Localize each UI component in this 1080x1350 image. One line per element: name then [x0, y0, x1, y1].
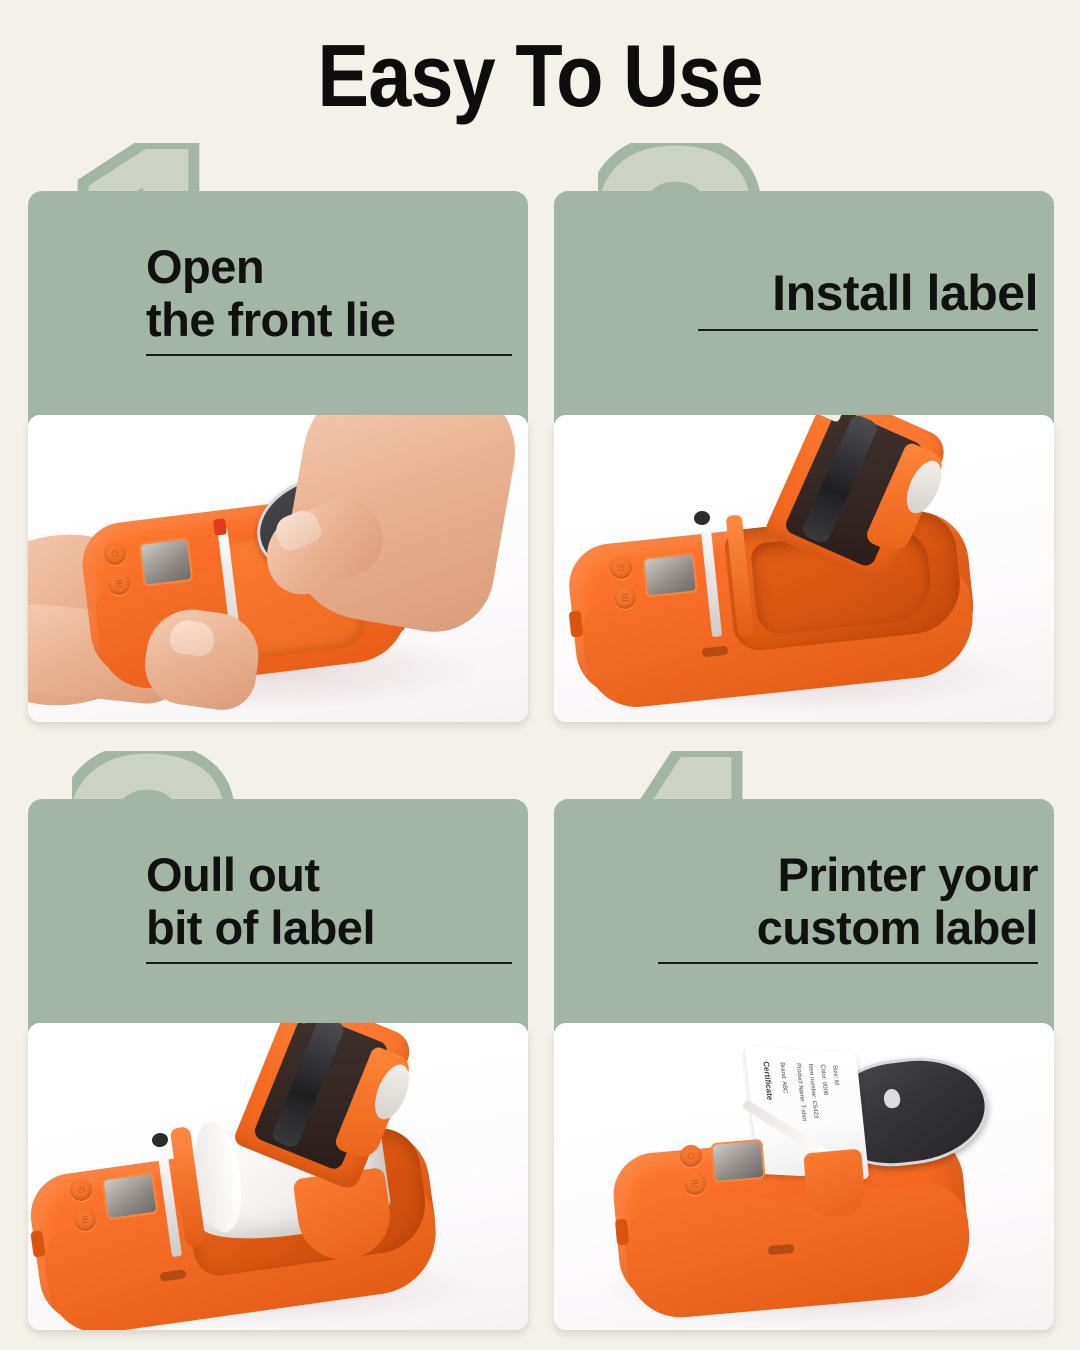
printed-label-line-4: Color: 0006 — [819, 1064, 828, 1095]
step-card-3: 3 Oull out bit of label — [28, 751, 528, 1336]
printer-status-window — [642, 552, 698, 597]
step-panel-1: Open the front lie — [28, 191, 528, 423]
step-title-3-line2: bit of label — [146, 901, 375, 954]
step-underline-3 — [146, 962, 512, 964]
step-title-1-line2: the front lie — [146, 293, 395, 346]
printed-label-line-1: Brand: ABC — [779, 1062, 788, 1094]
step-panel-4: Printer your custom label — [554, 799, 1054, 1031]
printed-label-line-2: Product Name: T-shirt — [795, 1063, 807, 1121]
steps-grid: 1 Open the front lie — [28, 143, 1054, 1338]
printed-label-line-3: Item number: C5423 — [807, 1064, 819, 1119]
step-card-4: 4 Printer your custom label — [554, 751, 1054, 1336]
page-title: Easy To Use — [65, 32, 1015, 120]
step-card-2: 2 Install label — [554, 143, 1054, 728]
step-photo-3: ⏻ ☰ — [28, 1023, 528, 1330]
step-title-1-line1: Open — [146, 240, 264, 293]
step-photo-2: ⏻ ☰ — [554, 415, 1054, 722]
printed-label-heading: Certificate — [761, 1061, 774, 1100]
step-photo-1: ⏻ ☰ — [28, 415, 528, 722]
step-title-4-line1: Printer your — [778, 848, 1038, 901]
printer-status-window — [101, 1172, 158, 1221]
step-title-4-line2: custom label — [757, 901, 1038, 954]
step-card-1: 1 Open the front lie — [28, 143, 528, 728]
step-title-3-line1: Oull out — [146, 848, 320, 901]
step-title-2-line2: Install label — [772, 265, 1038, 322]
step-panel-2: Install label — [554, 191, 1054, 423]
step-underline-2 — [698, 329, 1038, 331]
printed-label-line-5: Size: M — [831, 1065, 839, 1085]
printer-status-window — [710, 1139, 765, 1183]
step-underline-1 — [146, 354, 512, 356]
step-underline-4 — [658, 962, 1038, 964]
step-photo-4: Certificate Brand: ABC Product Name: T-s… — [554, 1023, 1054, 1330]
infographic-page: Easy To Use 1 Open the front lie — [0, 0, 1080, 1350]
printer-status-window — [139, 537, 194, 587]
step-panel-3: Oull out bit of label — [28, 799, 528, 1031]
